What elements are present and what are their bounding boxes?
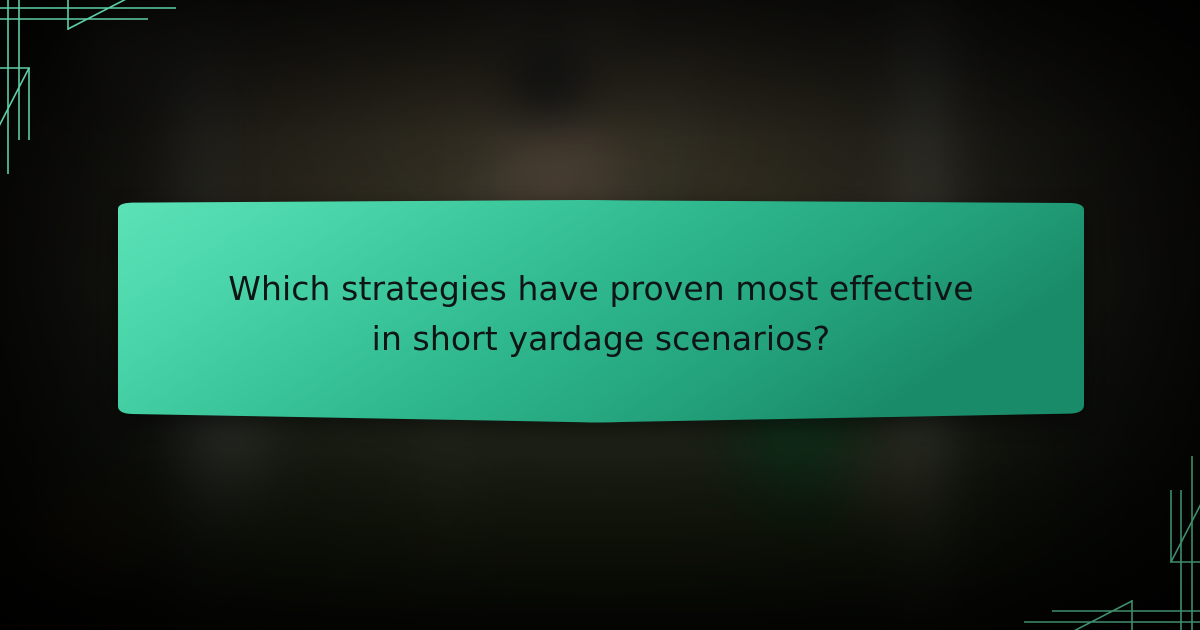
question-banner: Which strategies have proven most effect…: [0, 0, 1200, 630]
question-text: Which strategies have proven most effect…: [102, 200, 1100, 428]
question-card: Which strategies have proven most effect…: [102, 200, 1100, 428]
